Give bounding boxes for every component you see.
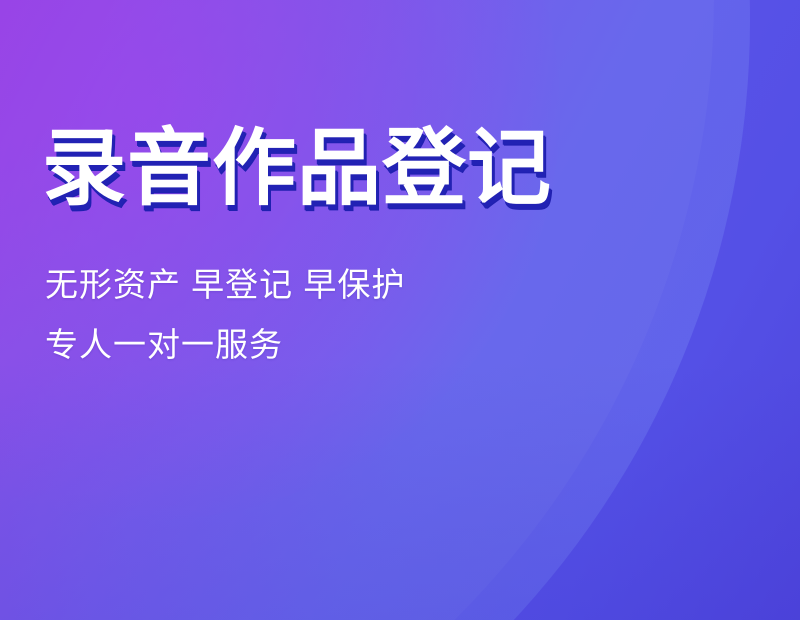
banner-subtitle-line-2: 专人一对一服务: [45, 328, 283, 361]
banner-subtitle-line-1: 无形资产 早登记 早保护: [45, 268, 405, 301]
banner-headline: 录音作品登记: [42, 124, 552, 213]
promo-banner: 录音作品登记 无形资产 早登记 早保护 专人一对一服务: [0, 0, 800, 620]
banner-content: 录音作品登记 无形资产 早登记 早保护 专人一对一服务: [0, 0, 800, 620]
